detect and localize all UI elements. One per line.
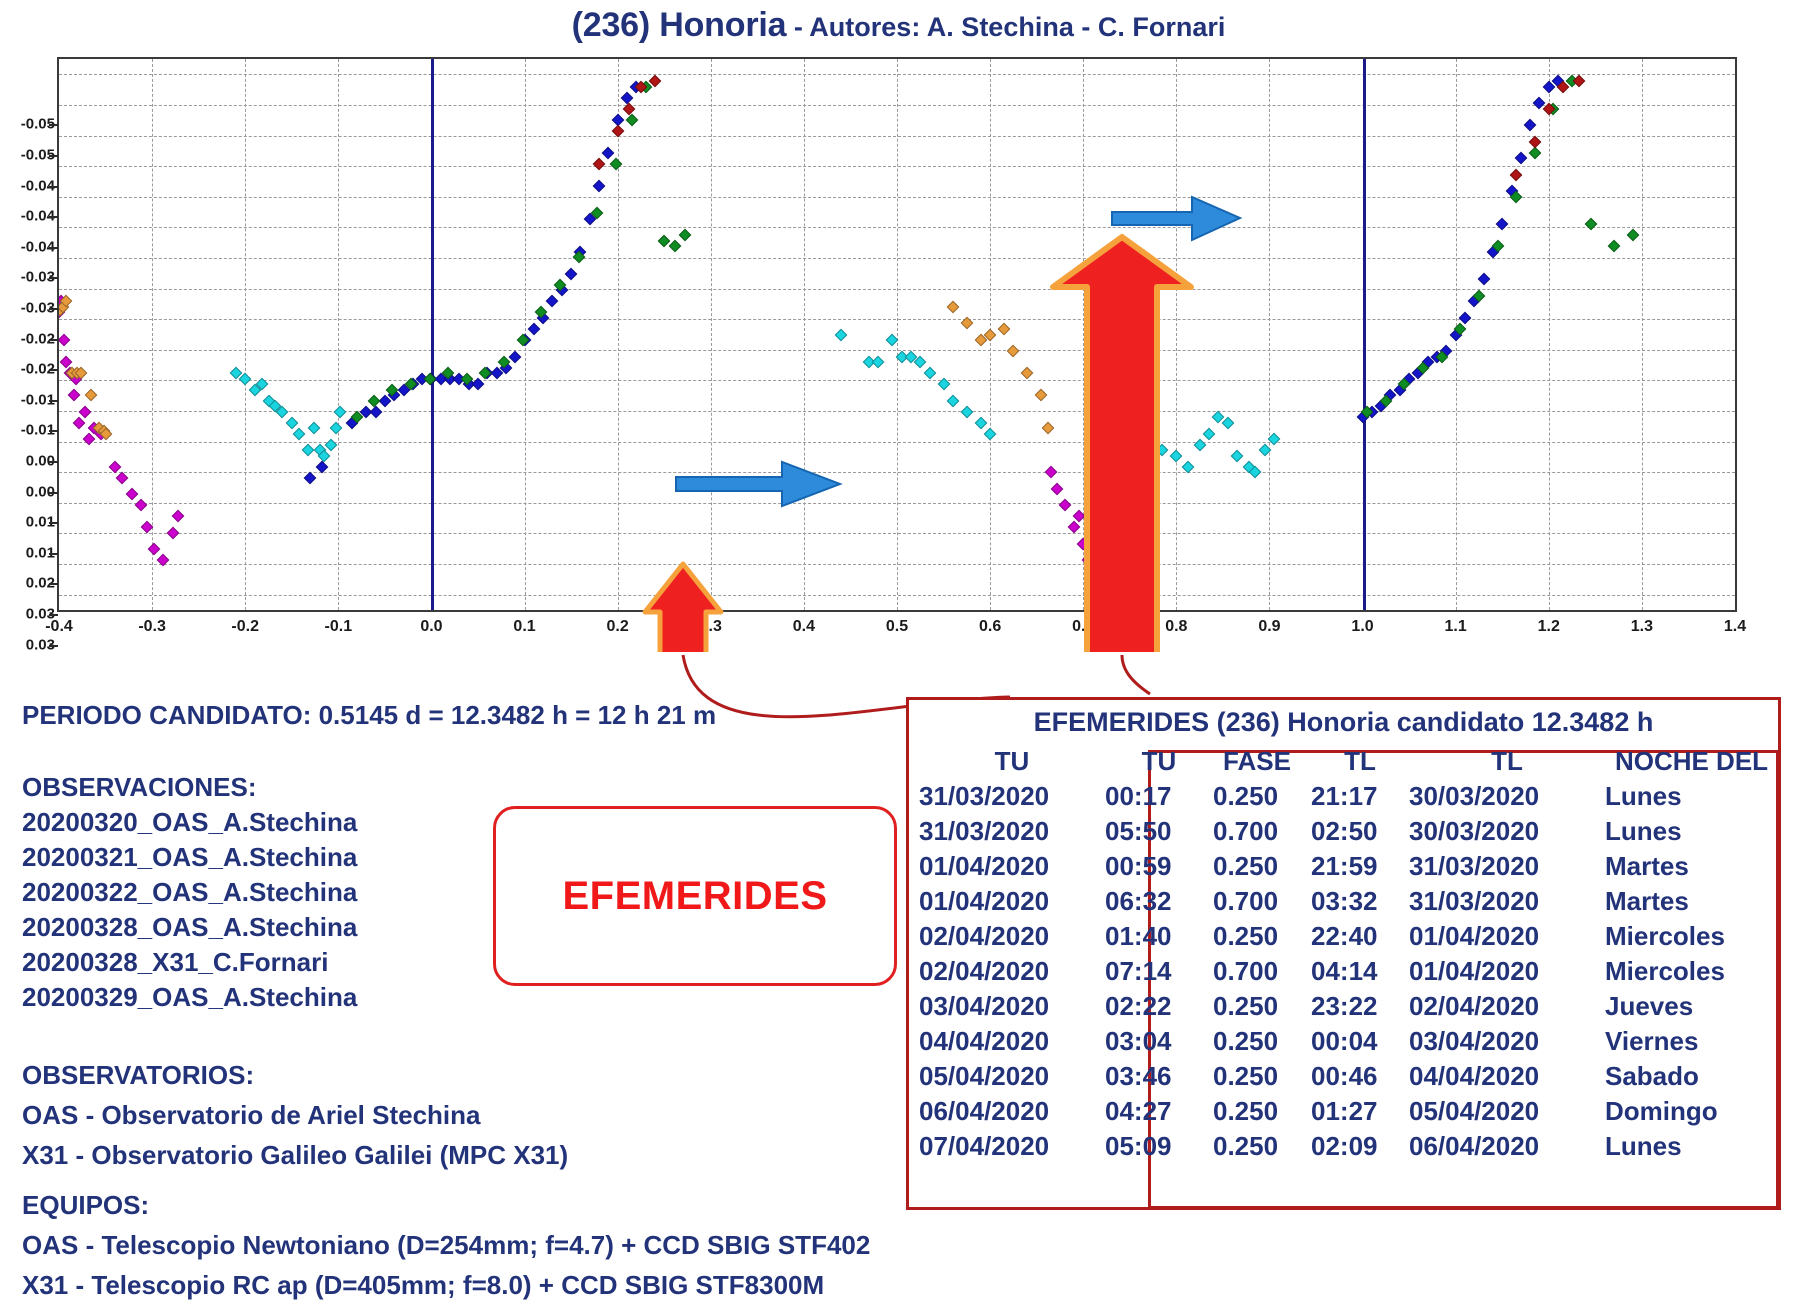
cell-fase: 0.250 [1213,1129,1301,1164]
cell-tu-date: 02/04/2020 [909,919,1105,954]
cell-tu-time: 05:50 [1105,814,1213,849]
data-point [1156,444,1169,457]
observacion-item: 20200320_OAS_A.Stechina [22,805,357,840]
cell-tu-time: 07:14 [1105,954,1213,989]
data-point [334,405,347,418]
gridline-vertical [245,59,246,610]
efemerides-table-body: 31/03/202000:170.25021:1730/03/2020Lunes… [909,779,1778,1164]
cell-fase: 0.250 [1213,779,1301,814]
cell-tl-date: 01/04/2020 [1409,954,1605,989]
table-row: 02/04/202001:400.25022:4001/04/2020Mierc… [909,919,1778,954]
table-row: 02/04/202007:140.70004:1401/04/2020Mierc… [909,954,1778,989]
x-axis-tick-label: 0.4 [793,618,815,636]
y-axis-tick-mark [49,247,58,249]
data-point [1514,152,1527,165]
cell-tu-date: 04/04/2020 [909,1024,1105,1059]
x-axis-tick-label: 0.1 [513,618,535,636]
cell-tl-time: 22:40 [1301,919,1409,954]
x-axis-tick-label: 0.8 [1165,618,1187,636]
y-axis-tick-label: 0.01 [3,544,55,561]
y-axis-tick-label: 0.00 [3,483,55,500]
cell-fase: 0.700 [1213,814,1301,849]
cell-tl-time: 03:32 [1301,884,1409,919]
gridline-vertical [711,59,712,610]
data-point [602,146,615,159]
equipo-item: OAS - Telescopio Newtoniano (D=254mm; f=… [22,1225,870,1265]
table-row: 31/03/202005:500.70002:5030/03/2020Lunes [909,814,1778,849]
y-axis-tick-mark [49,339,58,341]
y-axis-tick-mark [49,124,58,126]
y-axis-tick-label: 0.03 [3,636,55,653]
y-axis-tick-label: -0.04 [3,177,55,194]
cell-tl-date: 01/04/2020 [1409,919,1605,954]
plot-area [57,57,1737,612]
table-row: 31/03/202000:170.25021:1730/03/2020Lunes [909,779,1778,814]
cell-fase: 0.250 [1213,1094,1301,1129]
y-axis-tick-mark [49,430,58,432]
y-axis-tick-label: -0.01 [3,422,55,439]
equipos-block: EQUIPOS: OAS - Telescopio Newtoniano (D=… [22,1185,870,1305]
y-axis-tick-label: 0.01 [3,514,55,531]
phase-marker-line [1363,59,1366,610]
data-point [301,444,314,457]
cell-tu-date: 02/04/2020 [909,954,1105,989]
cell-tl-date: 31/03/2020 [1409,884,1605,919]
cell-fase: 0.250 [1213,919,1301,954]
x-axis-tick-label: 0.5 [886,618,908,636]
y-axis-tick-mark [49,461,58,463]
y-axis-tick-mark [49,216,58,218]
gridline-vertical [804,59,805,610]
cell-tl-time: 02:50 [1301,814,1409,849]
data-point [1524,119,1537,132]
data-point [108,460,121,473]
observacion-item: 20200328_OAS_A.Stechina [22,910,357,945]
x-axis-tick-label: 0.0 [420,618,442,636]
data-point [1109,576,1122,589]
observacion-item: 20200328_X31_C.Fornari [22,945,357,980]
y-axis-tick-mark [49,369,58,371]
col-header-noche-del: NOCHE DEL [1605,744,1778,779]
cell-tu-date: 06/04/2020 [909,1094,1105,1129]
cell-tl-date: 04/04/2020 [1409,1059,1605,1094]
period-candidate-line: PERIODO CANDIDATO: 0.5145 d = 12.3482 h … [22,700,716,731]
data-point [1142,433,1155,446]
cell-noche: Lunes [1605,779,1778,814]
data-point [125,488,138,501]
cell-tu-time: 03:04 [1105,1024,1213,1059]
data-point [984,427,997,440]
data-point [367,394,380,407]
data-point [1088,565,1101,578]
cell-tl-date: 30/03/2020 [1409,779,1605,814]
y-axis-tick-mark [49,400,58,402]
x-axis-tick-label: 0.9 [1258,618,1280,636]
cell-tl-time: 00:46 [1301,1059,1409,1094]
data-point [621,91,634,104]
cell-tl-time: 04:14 [1301,954,1409,989]
equipos-heading: EQUIPOS: [22,1185,870,1225]
observaciones-block: OBSERVACIONES: 20200320_OAS_A.Stechina 2… [22,770,357,1015]
y-axis-tick-label: -0.04 [3,208,55,225]
y-axis-tick-mark [49,583,58,585]
table-row: 03/04/202002:220.25023:2202/04/2020Jueve… [909,989,1778,1024]
efemerides-callout-label: EFEMERIDES [562,874,827,919]
data-point [84,389,97,402]
y-axis-tick-mark [49,155,58,157]
lightcurve-chart: -0.05-0.05-0.04-0.04-0.04-0.03-0.03-0.02… [0,52,1797,652]
table-row: 01/04/202006:320.70003:3231/03/2020Marte… [909,884,1778,919]
cell-noche: Lunes [1605,814,1778,849]
x-axis-tick-label: 0.2 [607,618,629,636]
cell-tl-date: 03/04/2020 [1409,1024,1605,1059]
y-axis-tick-label: -0.01 [3,391,55,408]
data-point [1035,389,1048,402]
col-header-tl-date: TL [1409,744,1605,779]
data-point [1193,438,1206,451]
cell-tu-date: 03/04/2020 [909,989,1105,1024]
data-point [1584,218,1597,231]
data-point [308,422,321,435]
y-axis-tick-label: -0.05 [3,146,55,163]
data-point [1077,538,1090,551]
cell-tu-time: 00:17 [1105,779,1213,814]
cell-tu-date: 07/04/2020 [909,1129,1105,1164]
cell-tu-date: 01/04/2020 [909,884,1105,919]
cell-tl-date: 30/03/2020 [1409,814,1605,849]
x-axis-tick-label: 0.6 [979,618,1001,636]
cell-tu-date: 05/04/2020 [909,1059,1105,1094]
cell-tu-time: 06:32 [1105,884,1213,919]
cell-fase: 0.700 [1213,884,1301,919]
data-point [669,240,682,253]
x-axis-tick-label: 1.3 [1631,618,1653,636]
y-axis-tick-label: 0.00 [3,453,55,470]
x-axis-tick-label: 0.3 [700,618,722,636]
table-row: 01/04/202000:590.25021:5931/03/2020Marte… [909,849,1778,884]
x-axis-tick-label: 1.4 [1724,618,1746,636]
x-axis-tick-label: -0.2 [231,618,259,636]
data-point [974,416,987,429]
data-point [1068,521,1081,534]
cell-tu-date: 01/04/2020 [909,849,1105,884]
data-point [1528,135,1541,148]
data-point [1170,449,1183,462]
gridline-vertical [897,59,898,610]
data-point [330,422,343,435]
title-authors: - Autores: A. Stechina - C. Fornari [786,12,1225,42]
data-point [1626,229,1639,242]
observatorios-heading: OBSERVATORIOS: [22,1055,568,1095]
data-point [593,179,606,192]
y-axis-tick-label: -0.02 [3,330,55,347]
data-point [116,471,129,484]
data-point [68,389,81,402]
gridline-vertical [1176,59,1177,610]
observacion-item: 20200329_OAS_A.Stechina [22,980,357,1015]
data-point [82,433,95,446]
data-point [923,367,936,380]
table-row: 06/04/202004:270.25001:2705/04/2020Domin… [909,1094,1778,1129]
col-header-tu-date: TU [909,744,1105,779]
cell-tl-time: 01:27 [1301,1094,1409,1129]
gridline-vertical [1269,59,1270,610]
efemerides-title: EFEMERIDES (236) Honoria candidato 12.34… [909,707,1778,738]
cell-noche: Viernes [1605,1024,1778,1059]
x-axis-tick-label: 1.1 [1445,618,1467,636]
cell-tu-date: 31/03/2020 [909,814,1105,849]
x-axis-tick-label: -0.1 [325,618,353,636]
data-point [565,268,578,281]
cell-noche: Lunes [1605,1129,1778,1164]
data-point [166,526,179,539]
cell-tl-time: 00:04 [1301,1024,1409,1059]
data-point [960,405,973,418]
gridline-vertical [1083,59,1084,610]
data-point [1051,482,1064,495]
x-axis-tick-label: 1.2 [1538,618,1560,636]
data-point [1007,345,1020,358]
phase-marker-line [431,59,434,610]
y-axis-tick-mark [49,277,58,279]
data-point [148,543,161,556]
cell-noche: Jueves [1605,989,1778,1024]
data-point [1044,466,1057,479]
data-point [1058,499,1071,512]
cell-noche: Martes [1605,884,1778,919]
data-point [527,323,540,336]
y-axis-tick-label: -0.02 [3,361,55,378]
data-point [872,356,885,369]
gridline-vertical [618,59,619,610]
title-object-name: (236) Honoria [572,6,787,44]
cell-tu-time: 02:22 [1105,989,1213,1024]
cell-tu-time: 00:59 [1105,849,1213,884]
cell-tl-date: 31/03/2020 [1409,849,1605,884]
cell-tl-date: 05/04/2020 [1409,1094,1605,1129]
data-point [135,499,148,512]
cell-noche: Miercoles [1605,954,1778,989]
data-point [1021,367,1034,380]
data-point [625,113,638,126]
cell-tu-time: 05:09 [1105,1129,1213,1164]
y-axis-tick-mark [49,645,58,647]
cell-tu-time: 03:46 [1105,1059,1213,1094]
y-axis-tick-label: 0.02 [3,575,55,592]
cell-noche: Miercoles [1605,919,1778,954]
data-point [1230,449,1243,462]
table-row: 04/04/202003:040.25000:0403/04/2020Viern… [909,1024,1778,1059]
data-point [1181,460,1194,473]
observacion-item: 20200322_OAS_A.Stechina [22,875,357,910]
data-point [1249,466,1262,479]
observacion-item: 20200321_OAS_A.Stechina [22,840,357,875]
y-axis-tick-mark [49,308,58,310]
observatorios-block: OBSERVATORIOS: OAS - Observatorio de Ari… [22,1055,568,1175]
observaciones-heading: OBSERVACIONES: [22,770,357,805]
efemerides-table: TU TU FASE TL TL NOCHE DEL 31/03/202000:… [909,744,1778,1164]
table-header-row: TU TU FASE TL TL NOCHE DEL [909,744,1778,779]
data-point [946,394,959,407]
y-axis-tick-mark [49,492,58,494]
gridline-vertical [338,59,339,610]
x-axis-tick-label: -0.3 [138,618,166,636]
data-point [678,229,691,242]
data-point [1477,273,1490,286]
x-axis-tick-label: 1.0 [1351,618,1373,636]
cell-fase: 0.250 [1213,1059,1301,1094]
data-point [293,427,306,440]
data-point [79,405,92,418]
col-header-fase: FASE [1213,744,1301,779]
data-point [546,295,559,308]
table-row: 05/04/202003:460.25000:4604/04/2020Sabad… [909,1059,1778,1094]
data-point [1041,422,1054,435]
observatorio-item: OAS - Observatorio de Ariel Stechina [22,1095,568,1135]
data-point [946,301,959,314]
cell-fase: 0.250 [1213,849,1301,884]
cell-tl-time: 21:59 [1301,849,1409,884]
y-axis-tick-label: -0.04 [3,238,55,255]
col-header-tl-time: TL [1301,744,1409,779]
y-axis-tick-label: -0.05 [3,116,55,133]
y-axis-tick-mark [49,614,58,616]
cell-tu-time: 01:40 [1105,919,1213,954]
cell-tu-date: 31/03/2020 [909,779,1105,814]
data-point [369,405,382,418]
x-axis-tick-label: 0.7 [1072,618,1094,636]
y-axis-tick-mark [49,522,58,524]
data-point [835,328,848,341]
cell-tl-date: 06/04/2020 [1409,1129,1605,1164]
data-point [315,460,328,473]
data-point [1203,427,1216,440]
gridline-vertical [1549,59,1550,610]
cell-fase: 0.250 [1213,1024,1301,1059]
equipo-item: X31 - Telescopio RC ap (D=405mm; f=8.0) … [22,1265,870,1305]
efemerides-callout-box: EFEMERIDES [493,806,897,986]
cell-tl-time: 23:22 [1301,989,1409,1024]
y-axis-tick-label: -0.03 [3,269,55,286]
data-point [1510,168,1523,181]
y-axis-tick-label: -0.03 [3,299,55,316]
cell-fase: 0.700 [1213,954,1301,989]
table-row: 07/04/202005:090.25002:0906/04/2020Lunes [909,1129,1778,1164]
data-point [509,350,522,363]
y-axis-tick-mark [49,553,58,555]
gridline-vertical [1642,59,1643,610]
cell-noche: Martes [1605,849,1778,884]
col-header-tu-time: TU [1105,744,1213,779]
x-axis-tick-label: -0.4 [45,618,73,636]
data-point [593,157,606,170]
page-title: (236) Honoria - Autores: A. Stechina - C… [0,6,1797,45]
observatorio-item: X31 - Observatorio Galileo Galilei (MPC … [22,1135,568,1175]
cell-noche: Sabado [1605,1059,1778,1094]
data-point [57,334,70,347]
data-point [1496,218,1509,231]
cell-tl-time: 21:17 [1301,779,1409,814]
y-axis-tick-mark [49,186,58,188]
cell-fase: 0.250 [1213,989,1301,1024]
data-point [172,510,185,523]
cell-tl-date: 02/04/2020 [1409,989,1605,1024]
data-point [285,416,298,429]
data-point [1608,240,1621,253]
cell-tl-time: 02:09 [1301,1129,1409,1164]
data-point [304,471,317,484]
data-point [609,157,622,170]
cell-noche: Domingo [1605,1094,1778,1129]
data-point [998,323,1011,336]
cell-tu-time: 04:27 [1105,1094,1213,1129]
efemerides-panel: EFEMERIDES (236) Honoria candidato 12.34… [906,697,1781,1210]
